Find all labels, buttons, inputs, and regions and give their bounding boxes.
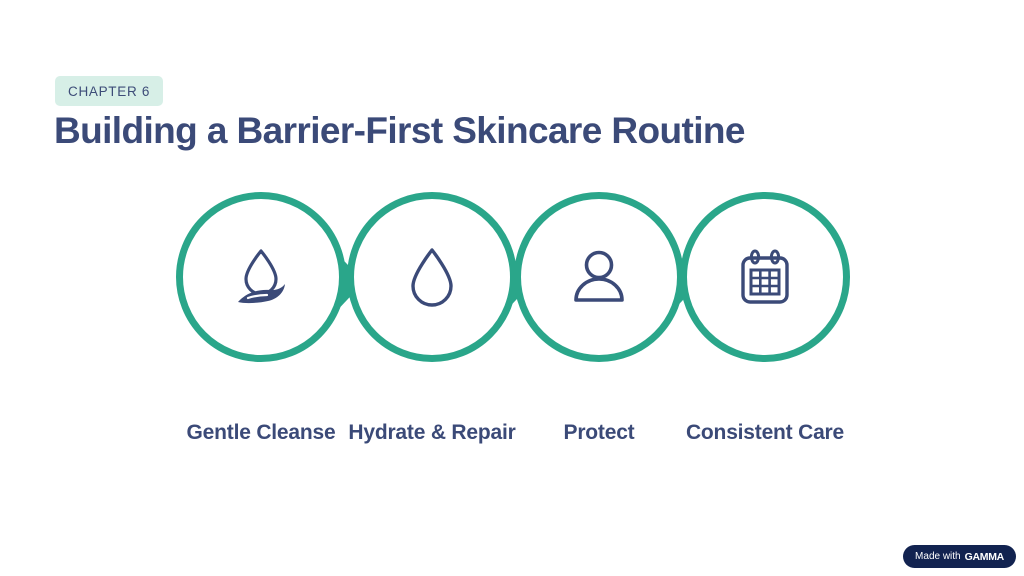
process-step-2[interactable] — [339, 188, 525, 374]
process-labels: Gentle Cleanse Hydrate & Repair Protect … — [0, 402, 1024, 472]
chapter-badge: CHAPTER 6 — [55, 76, 163, 106]
water-droplet-icon — [347, 192, 517, 362]
process-step-3[interactable] — [506, 188, 692, 374]
step-label-4: Consistent Care — [677, 402, 853, 464]
hand-holding-droplet-icon — [176, 192, 346, 362]
presentation-slide: CHAPTER 6 Building a Barrier-First Skinc… — [0, 0, 1024, 576]
person-icon — [514, 192, 684, 362]
made-with-gamma-badge[interactable]: Made with GAMMA — [903, 545, 1016, 568]
process-diagram — [0, 188, 1024, 378]
process-step-4[interactable] — [672, 188, 858, 374]
calendar-icon — [680, 192, 850, 362]
gamma-logo-text: GAMMA — [965, 551, 1004, 563]
step-label-1: Gentle Cleanse — [173, 402, 349, 464]
process-step-1[interactable] — [168, 188, 354, 374]
step-label-3: Protect — [511, 402, 687, 464]
page-title: Building a Barrier-First Skincare Routin… — [54, 108, 954, 154]
watermark-prefix: Made with — [915, 551, 961, 562]
step-label-2: Hydrate & Repair — [344, 402, 520, 464]
chapter-badge-label: CHAPTER 6 — [68, 84, 150, 99]
